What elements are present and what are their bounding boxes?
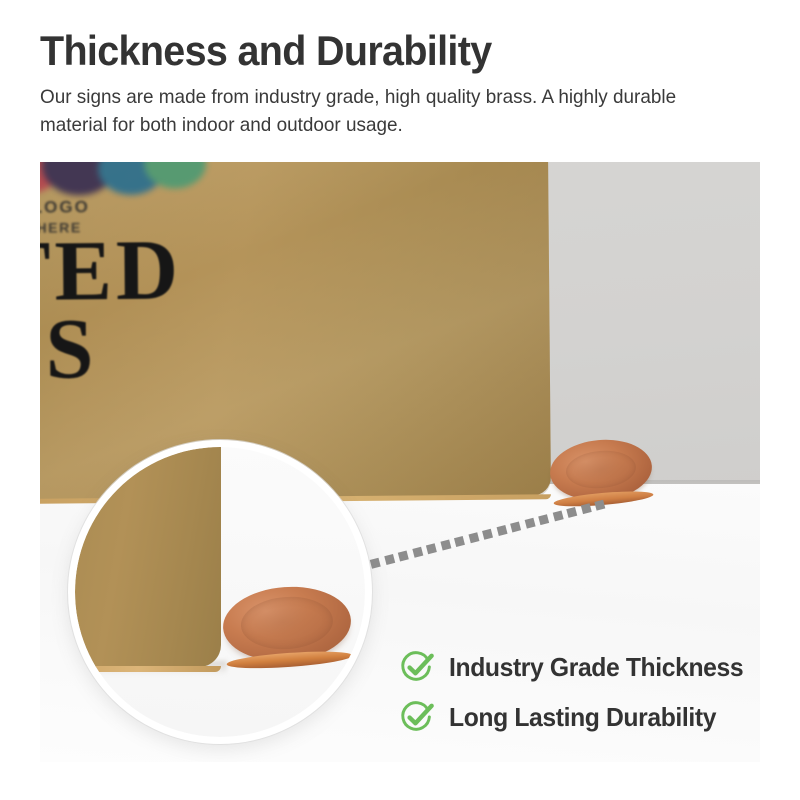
magnified-penny-rim — [226, 649, 353, 672]
magnified-penny-coin — [221, 583, 354, 666]
feature-label: Industry Grade Thickness — [449, 652, 743, 683]
magnified-penny-relief — [239, 594, 335, 652]
magnified-plate-edge — [75, 447, 221, 667]
feature-row: Industry Grade Thickness — [398, 648, 770, 686]
check-circle-icon — [398, 648, 436, 686]
check-circle-icon — [398, 698, 436, 736]
printed-headline-text: NTED ASS NS — [40, 230, 184, 466]
page-title: Thickness and Durability — [40, 28, 722, 74]
page-subtitle: Our signs are made from industry grade, … — [40, 83, 731, 139]
header-block: Thickness and Durability Our signs are m… — [40, 28, 766, 139]
magnifier-inner — [75, 447, 365, 737]
feature-label: Long Lasting Durability — [449, 702, 716, 733]
feature-row: Long Lasting Durability — [398, 698, 770, 736]
magnifier-inset — [68, 440, 372, 744]
infographic-page: Thickness and Durability Our signs are m… — [0, 0, 800, 800]
magnified-plate-bevel — [75, 666, 221, 672]
headline-line-1: NTED — [40, 230, 182, 310]
feature-list: Industry Grade ThicknessLong Lasting Dur… — [398, 648, 770, 748]
headline-line-2: ASS — [40, 308, 183, 388]
penny-relief — [565, 448, 637, 491]
logo-placeholder-line-1: UR LOGO — [40, 197, 90, 217]
